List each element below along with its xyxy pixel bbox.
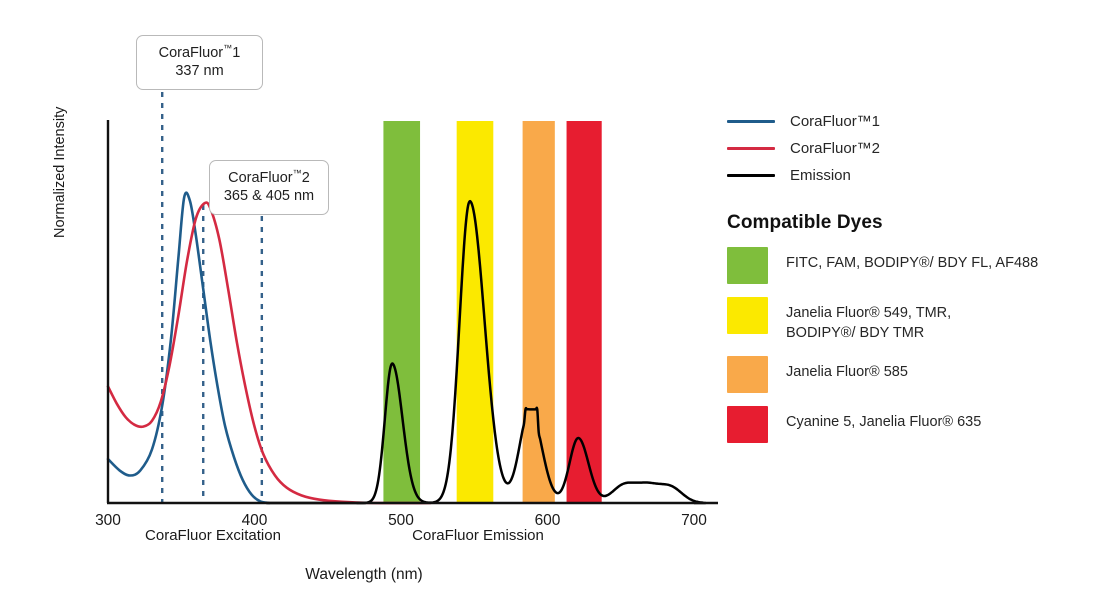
callout-corafluor2: CoraFluor™2 365 & 405 nm [209,160,329,215]
curve-corafluor1 [108,193,269,503]
callout-corafluor2-line1: CoraFluor™2 [221,168,317,187]
trademark-icon: ™ [293,168,302,178]
legend-line-swatch [727,120,775,123]
legend-dye-row: Janelia Fluor® 549, TMR,BODIPY®/ BDY TMR [727,297,1097,343]
orange-band [523,121,555,503]
excitation-group-label: CoraFluor Excitation [80,527,346,544]
compatible-dye-bands [383,121,601,503]
x-tick-label-700: 700 [681,512,707,529]
legend-dye-row: Janelia Fluor® 585 [727,356,1097,393]
fluorescence-spectra-figure: 300400500600700 CoraFluor™1 337 nm CoraF… [0,0,1110,612]
legend-dye-swatch [727,406,768,443]
series-legend: CoraFluor™1CoraFluor™2Emission [727,108,1097,189]
legend-line-swatch [727,147,775,150]
legend-series-row: CoraFluor™2 [727,135,1097,162]
compatible-dyes-legend: FITC, FAM, BODIPY®/ BDY FL, AF488Janelia… [727,247,1097,443]
legend-dye-label-line: Cyanine 5, Janelia Fluor® 635 [786,413,981,433]
legend-dye-label: Janelia Fluor® 585 [786,356,908,383]
legend-dye-label-line: BODIPY®/ BDY TMR [786,324,951,344]
legend-dye-swatch [727,247,768,284]
legend-series-row: Emission [727,162,1097,189]
legend-dye-label: FITC, FAM, BODIPY®/ BDY FL, AF488 [786,247,1038,274]
callout-corafluor1-line1: CoraFluor™1 [148,43,251,62]
y-axis-label: Normalized Intensity [52,38,68,238]
callout-corafluor1-line2: 337 nm [148,62,251,81]
legend-dye-label: Janelia Fluor® 549, TMR,BODIPY®/ BDY TMR [786,297,951,343]
legend-series-label: Emission [790,167,851,184]
legend-panel: CoraFluor™1CoraFluor™2Emission Compatibl… [727,108,1097,443]
legend-dye-label: Cyanine 5, Janelia Fluor® 635 [786,406,981,433]
legend-series-label: CoraFluor™1 [790,113,880,130]
excitation-marker-lines [162,92,262,503]
legend-dye-label-line: Janelia Fluor® 585 [786,363,908,383]
trademark-icon: ™ [223,43,232,53]
legend-dye-label-line: Janelia Fluor® 549, TMR, [786,304,951,324]
legend-dye-swatch [727,356,768,393]
legend-line-swatch [727,174,775,177]
legend-dye-row: Cyanine 5, Janelia Fluor® 635 [727,406,1097,443]
compatible-dyes-title: Compatible Dyes [727,212,1097,234]
callout-corafluor2-line2: 365 & 405 nm [221,187,317,206]
legend-series-row: CoraFluor™1 [727,108,1097,135]
x-axis-label: Wavelength (nm) [0,566,728,584]
legend-dye-swatch [727,297,768,334]
yellow-band [457,121,494,503]
callout-corafluor1: CoraFluor™1 337 nm [136,35,263,90]
legend-dye-row: FITC, FAM, BODIPY®/ BDY FL, AF488 [727,247,1097,284]
legend-dye-label-line: FITC, FAM, BODIPY®/ BDY FL, AF488 [786,254,1038,274]
green-band [383,121,420,503]
emission-group-label: CoraFluor Emission [345,527,611,544]
legend-series-label: CoraFluor™2 [790,140,880,157]
